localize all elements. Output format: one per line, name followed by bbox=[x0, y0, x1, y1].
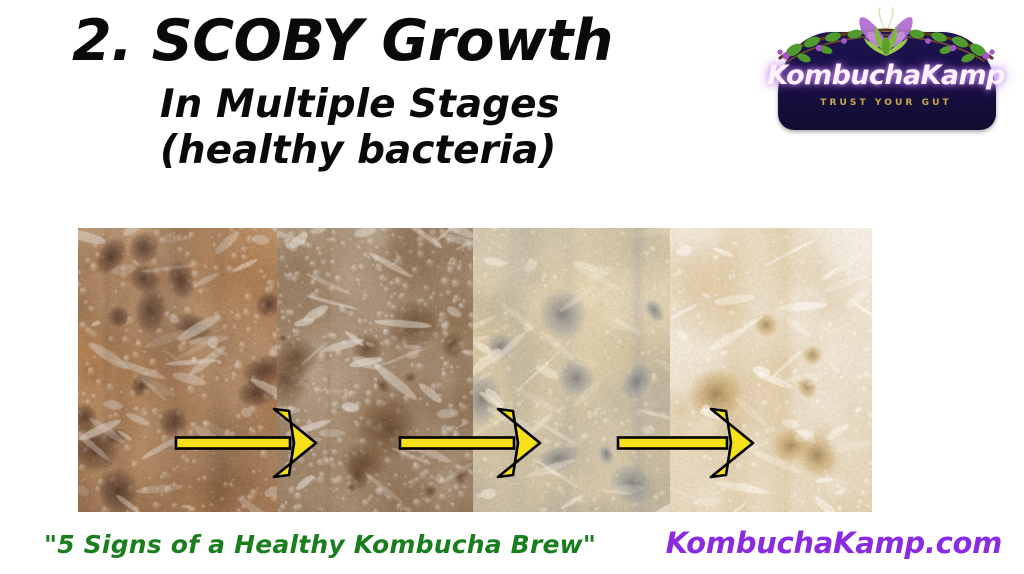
scoby-panel-1 bbox=[78, 228, 277, 512]
footer-website[interactable]: KombuchaKamp.com bbox=[666, 526, 1002, 560]
floral-butterfly-decoration-icon bbox=[760, 6, 1012, 68]
footer-caption: "5 Signs of a Healthy Kombucha Brew" bbox=[44, 530, 596, 559]
subtitle-line-2: (healthy bacteria) bbox=[0, 128, 730, 174]
scoby-panel-3 bbox=[473, 228, 670, 512]
page-title: 2. SCOBY Growth bbox=[0, 12, 730, 70]
scoby-panel-2 bbox=[277, 228, 472, 512]
scoby-panel-4 bbox=[670, 228, 872, 512]
logo-tagline: TRUST YOUR GUT bbox=[760, 98, 1012, 108]
title-block: 2. SCOBY Growth In Multiple Stages (heal… bbox=[0, 12, 730, 174]
kombucha-kamp-logo[interactable]: KombuchaKamp TRUST YOUR GUT bbox=[760, 6, 1012, 134]
scoby-growth-image-strip bbox=[78, 228, 872, 512]
subtitle-line-1: In Multiple Stages bbox=[0, 82, 730, 128]
logo-wordmark: KombuchaKamp bbox=[760, 60, 1012, 91]
